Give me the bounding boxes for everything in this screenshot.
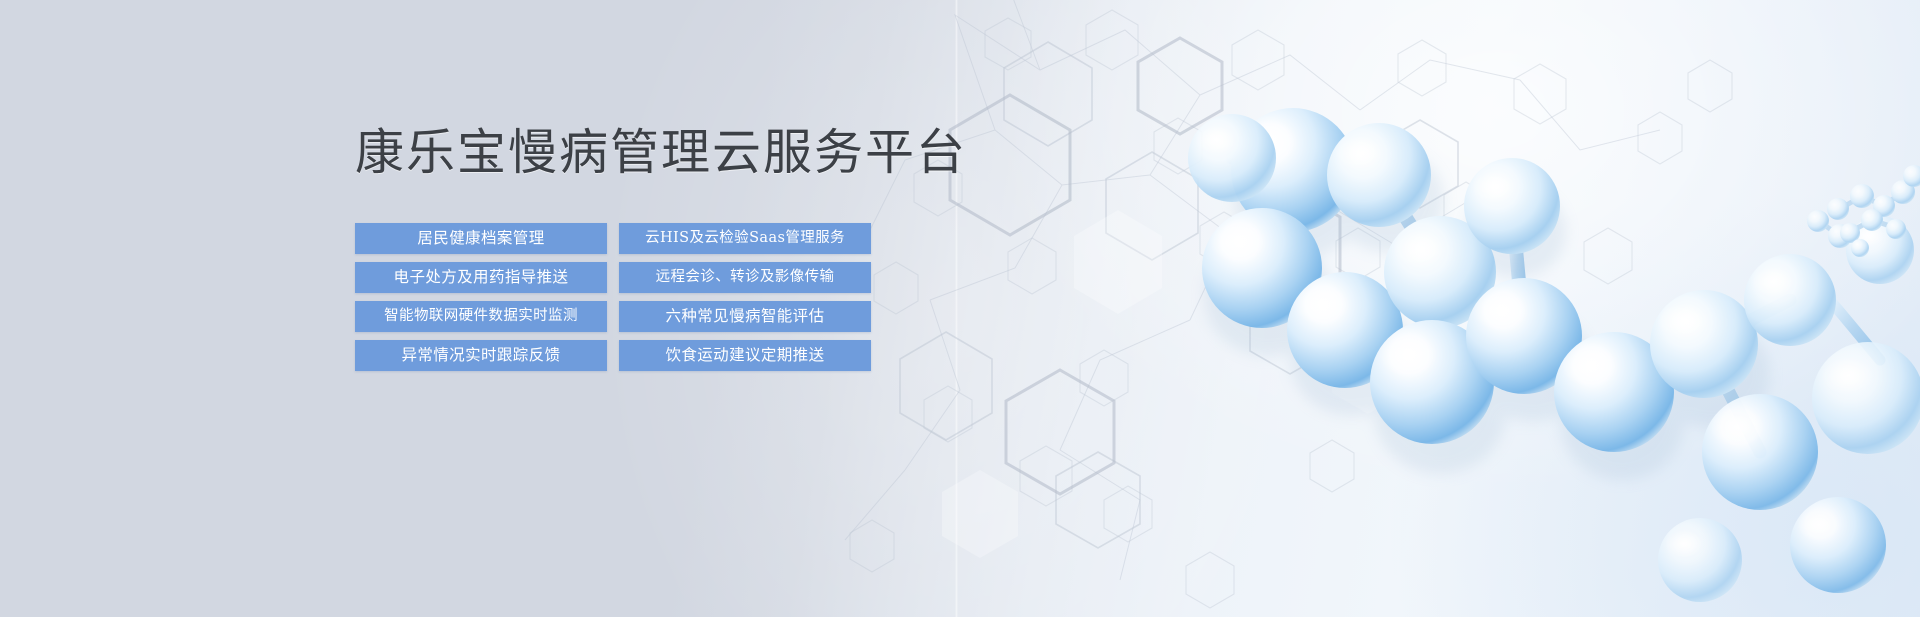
feature-chip-diet-exercise-advice[interactable]: 饮食运动建议定期推送: [619, 340, 871, 371]
feature-chip-grid: 居民健康档案管理 云HIS及云检验Saas管理服务 电子处方及用药指导推送 远程…: [355, 223, 871, 371]
feature-chip-resident-health-record[interactable]: 居民健康档案管理: [355, 223, 607, 254]
feature-chip-cloud-his-lab-saas[interactable]: 云HIS及云检验Saas管理服务: [619, 223, 871, 254]
page-title: 康乐宝慢病管理云服务平台: [355, 126, 975, 181]
feature-chip-anomaly-tracking-feedback[interactable]: 异常情况实时跟踪反馈: [355, 340, 607, 371]
feature-chip-six-chronic-disease-assessment[interactable]: 六种常见慢病智能评估: [619, 301, 871, 332]
banner-content: 康乐宝慢病管理云服务平台 居民健康档案管理 云HIS及云检验Saas管理服务 电…: [355, 126, 975, 371]
feature-chip-e-prescription-medication[interactable]: 电子处方及用药指导推送: [355, 262, 607, 293]
hero-banner: 康乐宝慢病管理云服务平台 居民健康档案管理 云HIS及云检验Saas管理服务 电…: [0, 0, 1920, 617]
feature-chip-iot-hardware-monitoring[interactable]: 智能物联网硬件数据实时监测: [355, 301, 607, 332]
feature-chip-remote-consultation-imaging[interactable]: 远程会诊、转诊及影像传输: [619, 262, 871, 293]
